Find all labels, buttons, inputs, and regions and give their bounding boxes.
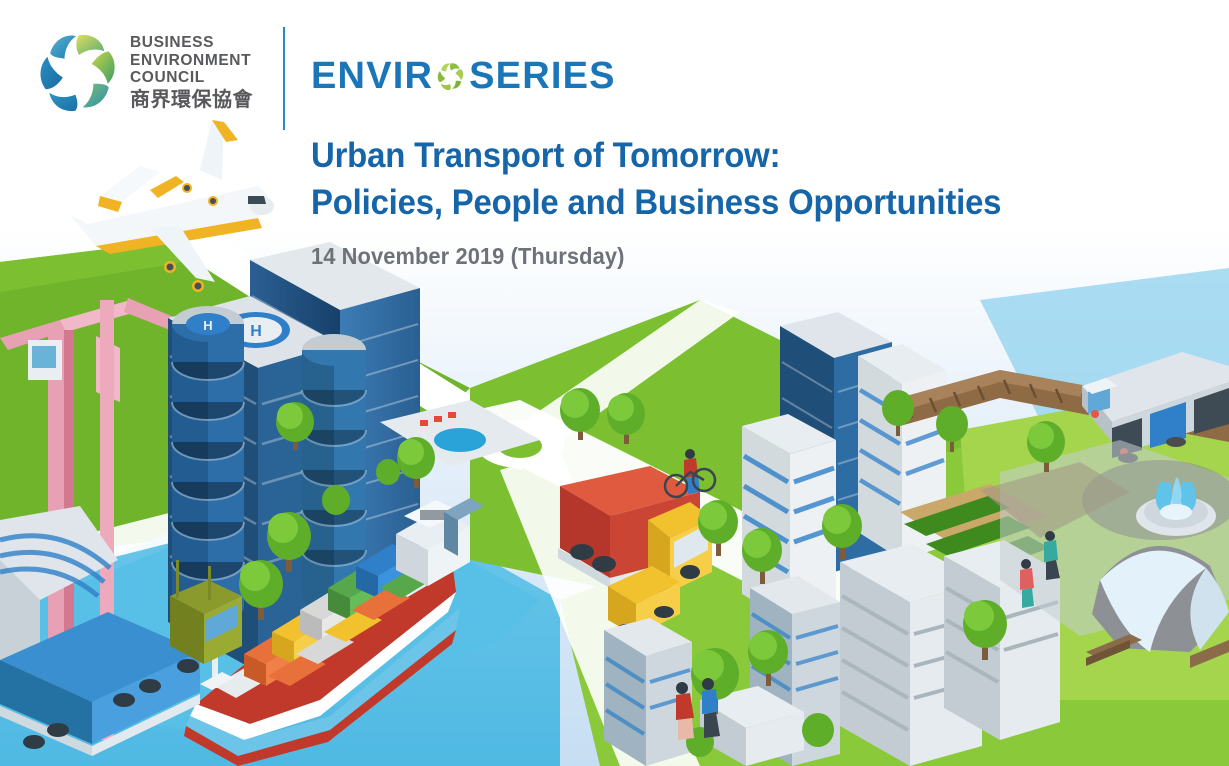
org-name-line-2: ENVIRONMENT [130,52,270,70]
event-title-line-2: Policies, People and Business Opportunit… [311,179,1001,226]
header-divider [283,27,285,130]
organization-wordmark: BUSINESS ENVIRONMENT COUNCIL 商界環保協會 [130,34,270,111]
org-name-chinese: 商界環保協會 [130,88,270,111]
enviroseries-brand-lockup: ENVIR SERIES [311,52,616,100]
event-title-line-1: Urban Transport of Tomorrow: [311,132,1001,179]
svg-text:H: H [203,318,212,333]
event-banner: H H [0,0,1229,766]
enviro-text-part-one: ENVIR [311,57,433,95]
svg-text:H: H [250,323,262,340]
event-title: Urban Transport of Tomorrow: Policies, P… [311,132,1045,226]
banner-header: BUSINESS ENVIRONMENT COUNCIL 商界環保協會 ENVI… [0,0,1229,140]
org-name-line-3: COUNCIL [130,69,270,87]
organization-logo-block: BUSINESS ENVIRONMENT COUNCIL 商界環保協會 [34,22,266,126]
event-date: 14 November 2019 (Thursday) [311,243,624,270]
bec-pinwheel-logo-icon [34,28,124,118]
green-recycle-pinwheel-icon [434,60,468,94]
enviro-text-part-two: SERIES [469,57,616,95]
org-name-line-1: BUSINESS [130,34,270,52]
